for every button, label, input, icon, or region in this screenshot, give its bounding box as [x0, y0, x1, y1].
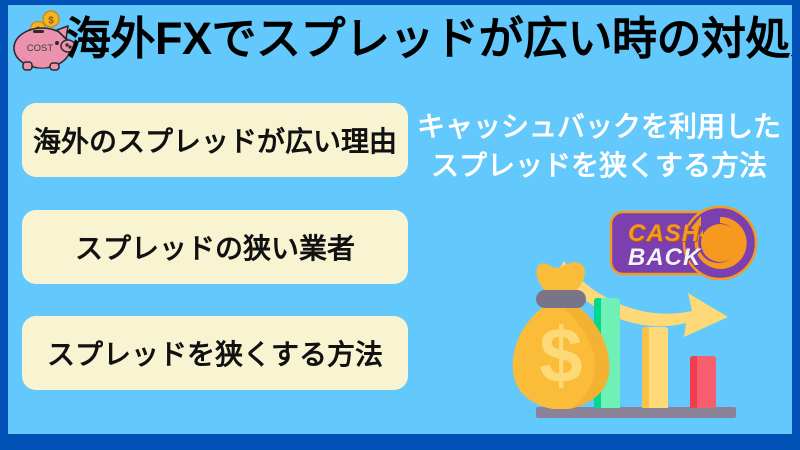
- cashback-top-text: CASH: [628, 222, 700, 246]
- topic-label: スプレッドを狭くする方法: [47, 333, 383, 373]
- money-bag-symbol: $: [539, 311, 582, 399]
- topic-label: 海外のスプレッドが広い理由: [33, 120, 397, 160]
- topic-box-1[interactable]: 海外のスプレッドが広い理由: [22, 103, 408, 177]
- cashback-badge[interactable]: CASH BACK: [608, 201, 768, 287]
- right-headline-line-1: キャッシュバックを利用した: [406, 107, 792, 146]
- poster-inner-panel: $ $: [8, 5, 792, 434]
- topic-label: スプレッドの狭い業者: [75, 227, 355, 267]
- piggy-cost-label: COST: [27, 43, 54, 54]
- cashback-bottom-text: BACK: [628, 246, 701, 270]
- svg-text:$: $: [48, 16, 54, 27]
- topic-box-3[interactable]: スプレッドを狭くする方法: [22, 316, 408, 390]
- right-headline: キャッシュバックを利用した スプレッドを狭くする方法: [406, 107, 792, 185]
- bar-2: [642, 327, 668, 408]
- bar-3: [690, 356, 716, 408]
- poster-canvas: $ $: [0, 0, 800, 450]
- page-title: 海外FXでスプレッドが広い時の対処方法: [66, 10, 790, 68]
- money-bag-icon: $: [506, 257, 616, 409]
- header: $ $: [8, 7, 792, 79]
- right-headline-line-2: スプレッドを狭くする方法: [406, 146, 792, 185]
- illustration-group: $ CASH BACK: [498, 195, 792, 434]
- topic-box-2[interactable]: スプレッドの狭い業者: [22, 210, 408, 284]
